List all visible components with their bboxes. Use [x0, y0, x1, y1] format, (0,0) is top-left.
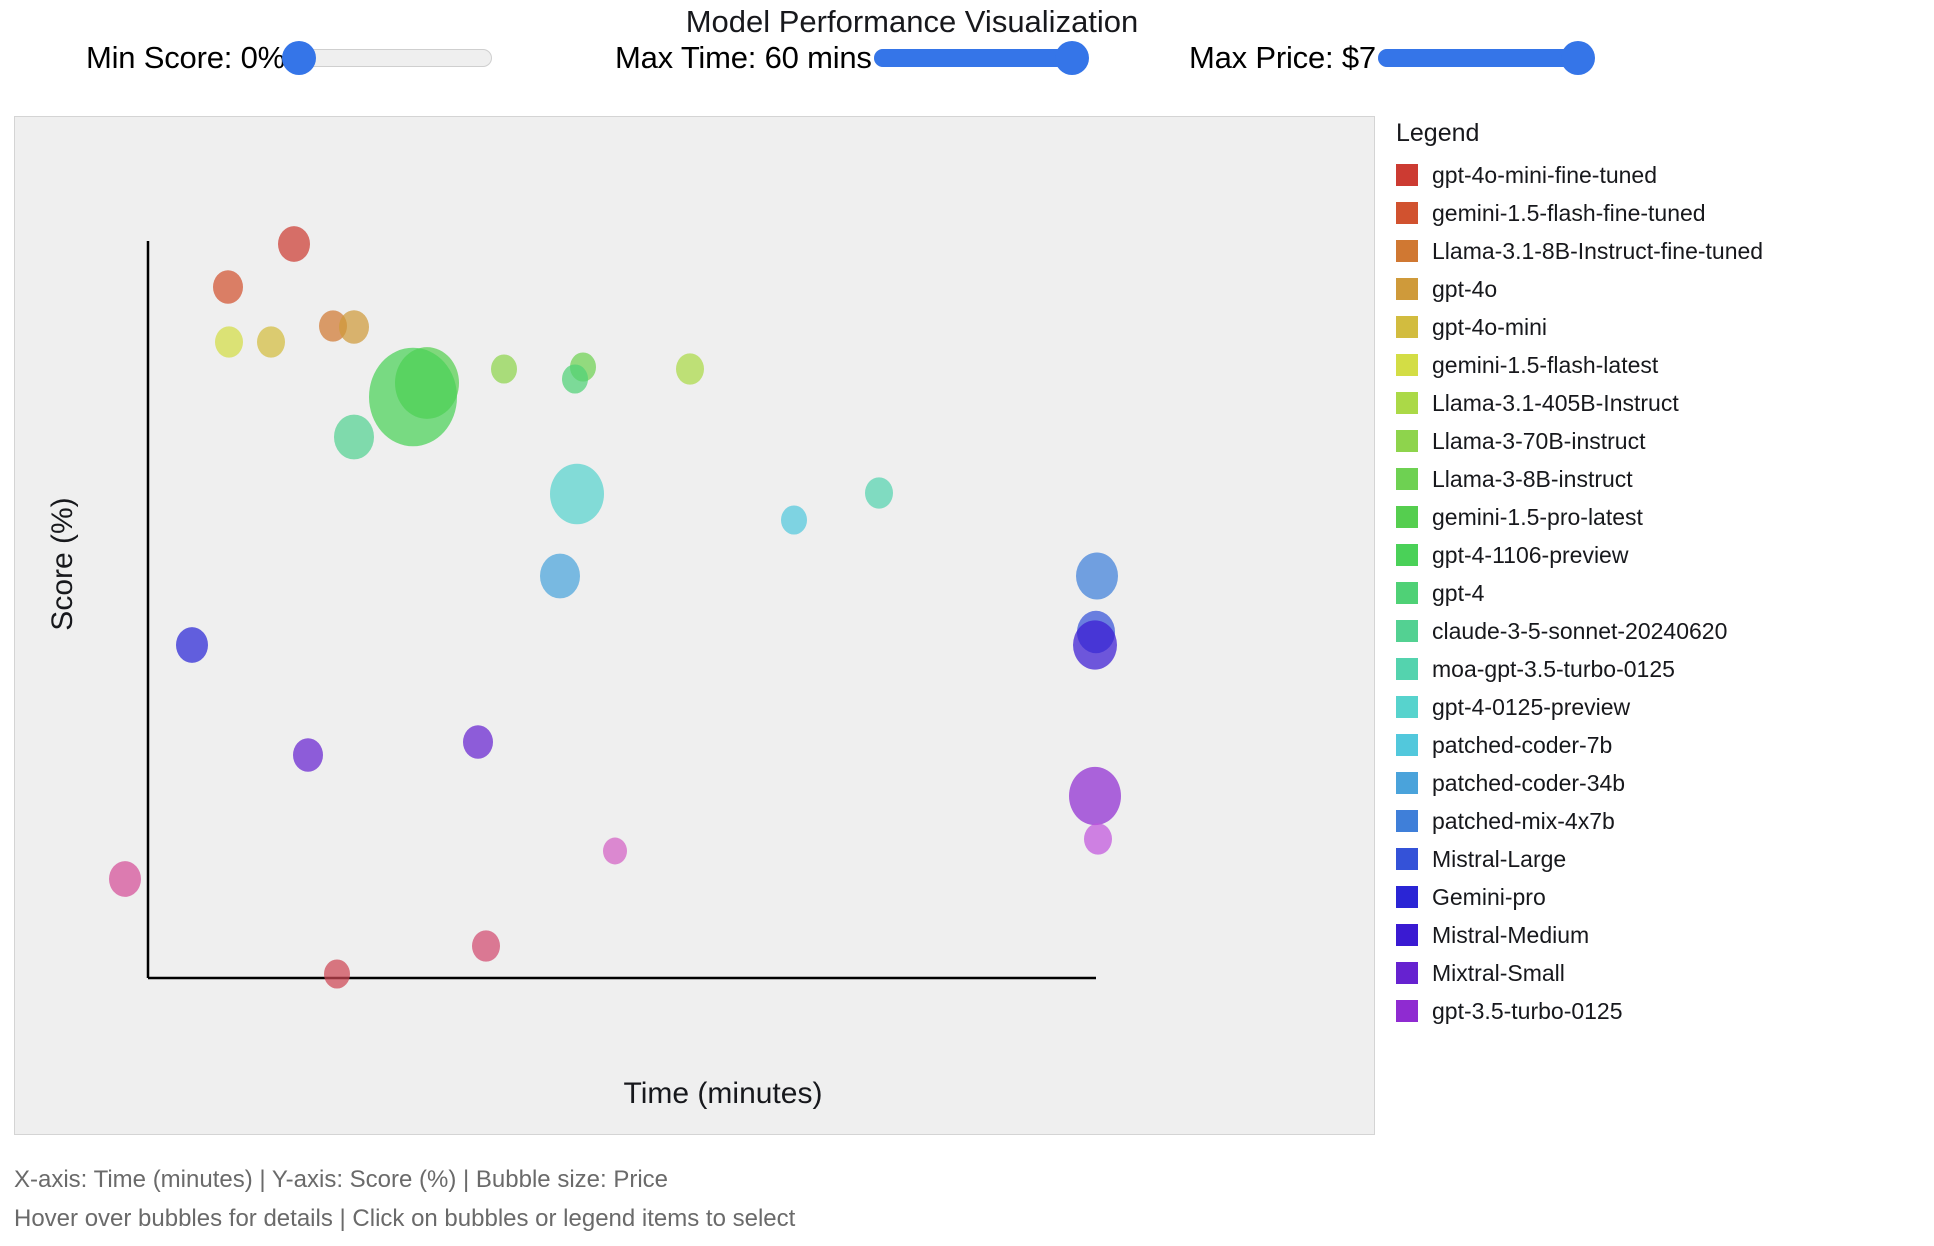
bubble[interactable] [215, 326, 243, 357]
legend-item[interactable]: Mistral-Medium [1396, 916, 1916, 954]
legend-color-swatch [1396, 734, 1418, 756]
bubble-chart-svg[interactable] [15, 117, 1375, 1135]
x-axis-title-text: Time (minutes) [624, 1077, 823, 1111]
page-title-text: Model Performance Visualization [686, 4, 1139, 40]
legend-item[interactable]: Mixtral-Small [1396, 954, 1916, 992]
legend-item[interactable]: gpt-4o-mini [1396, 308, 1916, 346]
legend-item-label: gpt-4o [1432, 276, 1497, 302]
footer-axis-info: X-axis: Time (minutes) | Y-axis: Score (… [14, 1160, 1414, 1199]
bubble[interactable] [781, 505, 807, 534]
legend-color-swatch [1396, 620, 1418, 642]
legend-color-swatch [1396, 202, 1418, 224]
legend-color-swatch [1396, 468, 1418, 490]
legend-item[interactable]: gpt-4 [1396, 574, 1916, 612]
bubble[interactable] [339, 310, 369, 344]
legend-item[interactable]: Llama-3.1-405B-Instruct [1396, 384, 1916, 422]
legend-item[interactable]: moa-gpt-3.5-turbo-0125 [1396, 650, 1916, 688]
legend-color-swatch [1396, 848, 1418, 870]
bubble[interactable] [293, 738, 323, 772]
max-time-slider[interactable] [874, 47, 1084, 69]
bubble[interactable] [463, 725, 493, 759]
max-price-slider-knob[interactable] [1561, 41, 1595, 75]
bubble[interactable] [865, 477, 893, 508]
bubble[interactable] [369, 348, 457, 447]
legend-color-swatch [1396, 658, 1418, 680]
legend-color-swatch [1396, 924, 1418, 946]
max-time-control: Max Time: 60 mins [615, 40, 1084, 76]
legend-color-swatch [1396, 316, 1418, 338]
bubble[interactable] [540, 554, 580, 599]
max-time-label: Max Time: 60 mins [615, 40, 872, 76]
max-price-control: Max Price: $7 [1189, 40, 1590, 76]
legend-item-label: gpt-4 [1432, 580, 1484, 606]
legend-item-label: Mistral-Large [1432, 846, 1566, 872]
legend-item[interactable]: gemini-1.5-flash-latest [1396, 346, 1916, 384]
legend-item-label: gpt-4o-mini-fine-tuned [1432, 162, 1657, 188]
max-price-label: Max Price: $7 [1189, 40, 1376, 76]
legend-color-swatch [1396, 278, 1418, 300]
legend-item[interactable]: gpt-4-1106-preview [1396, 536, 1916, 574]
footer: X-axis: Time (minutes) | Y-axis: Score (… [14, 1160, 1414, 1238]
bubble[interactable] [109, 861, 141, 897]
legend-item-label: gemini-1.5-flash-fine-tuned [1432, 200, 1706, 226]
legend-color-swatch [1396, 240, 1418, 262]
legend-item-label: gpt-3.5-turbo-0125 [1432, 998, 1623, 1024]
legend-color-swatch [1396, 772, 1418, 794]
legend-item-label: Mistral-Medium [1432, 922, 1589, 948]
max-time-slider-fill [874, 49, 1084, 67]
legend-item-label: moa-gpt-3.5-turbo-0125 [1432, 656, 1675, 682]
bubble[interactable] [213, 270, 243, 304]
legend-color-swatch [1396, 164, 1418, 186]
legend-color-swatch [1396, 810, 1418, 832]
bubble[interactable] [324, 959, 350, 988]
y-axis-title: Score (%) [46, 464, 80, 664]
legend-item[interactable]: claude-3-5-sonnet-20240620 [1396, 612, 1916, 650]
plot-inner [15, 117, 1374, 1134]
bubble[interactable] [1076, 552, 1118, 599]
legend-title: Legend [1396, 118, 1916, 148]
legend-item-label: gpt-4-1106-preview [1432, 542, 1628, 568]
bubble[interactable] [603, 838, 627, 865]
legend-item[interactable]: gpt-4o-mini-fine-tuned [1396, 156, 1916, 194]
legend-item-label: Mixtral-Small [1432, 960, 1565, 986]
bubble[interactable] [562, 364, 588, 393]
min-score-label: Min Score: 0% [86, 40, 285, 76]
legend: Legend gpt-4o-mini-fine-tunedgemini-1.5-… [1396, 118, 1916, 1030]
min-score-control: Min Score: 0% [86, 40, 492, 76]
y-axis-title-text: Score (%) [46, 497, 79, 630]
bubble[interactable] [1069, 767, 1121, 825]
bubble[interactable] [472, 930, 500, 961]
max-price-slider[interactable] [1378, 47, 1590, 69]
max-time-slider-knob[interactable] [1055, 41, 1089, 75]
legend-item[interactable]: gemini-1.5-pro-latest [1396, 498, 1916, 536]
bubble[interactable] [278, 226, 310, 262]
legend-item[interactable]: gemini-1.5-flash-fine-tuned [1396, 194, 1916, 232]
legend-item-label: patched-mix-4x7b [1432, 808, 1615, 834]
legend-item-label: Llama-3-70B-instruct [1432, 428, 1645, 454]
legend-item-label: Llama-3-8B-instruct [1432, 466, 1633, 492]
min-score-slider-track[interactable] [287, 49, 492, 67]
legend-item[interactable]: gpt-4-0125-preview [1396, 688, 1916, 726]
max-price-slider-fill [1378, 49, 1590, 67]
bubbles-group [109, 226, 1121, 988]
axes-group [148, 241, 1096, 978]
legend-item-label: claude-3-5-sonnet-20240620 [1432, 618, 1727, 644]
page-title: Model Performance Visualization [0, 4, 1934, 40]
legend-color-swatch [1396, 886, 1418, 908]
legend-item[interactable]: patched-coder-7b [1396, 726, 1916, 764]
bubble[interactable] [1084, 823, 1112, 854]
legend-color-swatch [1396, 1000, 1418, 1022]
legend-color-swatch [1396, 392, 1418, 414]
bubble[interactable] [550, 464, 604, 524]
legend-item[interactable]: Llama-3-8B-instruct [1396, 460, 1916, 498]
bubble[interactable] [491, 354, 517, 383]
legend-color-swatch [1396, 506, 1418, 528]
controls-bar: Model Performance Visualization Min Scor… [0, 0, 1934, 116]
legend-item[interactable]: gpt-4o [1396, 270, 1916, 308]
legend-item[interactable]: Llama-3.1-8B-Instruct-fine-tuned [1396, 232, 1916, 270]
legend-item-label: gpt-4o-mini [1432, 314, 1547, 340]
bubble[interactable] [334, 415, 374, 460]
legend-item-label: gemini-1.5-flash-latest [1432, 352, 1658, 378]
legend-item-label: Llama-3.1-8B-Instruct-fine-tuned [1432, 238, 1763, 264]
bubble[interactable] [1073, 620, 1117, 669]
legend-item[interactable]: Llama-3-70B-instruct [1396, 422, 1916, 460]
legend-color-swatch [1396, 696, 1418, 718]
bubble[interactable] [257, 326, 285, 357]
min-score-slider[interactable] [287, 47, 492, 69]
legend-color-swatch [1396, 582, 1418, 604]
min-score-slider-knob[interactable] [282, 41, 316, 75]
legend-color-swatch [1396, 430, 1418, 452]
legend-items-list: gpt-4o-mini-fine-tunedgemini-1.5-flash-f… [1396, 156, 1916, 1030]
footer-hint: Hover over bubbles for details | Click o… [14, 1199, 1414, 1238]
legend-item-label: Gemini-pro [1432, 884, 1546, 910]
legend-item[interactable]: Mistral-Large [1396, 840, 1916, 878]
legend-item-label: patched-coder-34b [1432, 770, 1625, 796]
bubble[interactable] [176, 627, 208, 663]
bubble[interactable] [676, 353, 704, 384]
bubble-chart-plot-area[interactable]: Score (%) Time (minutes) [14, 116, 1375, 1135]
legend-color-swatch [1396, 354, 1418, 376]
legend-item[interactable]: patched-mix-4x7b [1396, 802, 1916, 840]
legend-item[interactable]: Gemini-pro [1396, 878, 1916, 916]
legend-item-label: gpt-4-0125-preview [1432, 694, 1630, 720]
x-axis-title: Time (minutes) [15, 1077, 1375, 1111]
legend-item[interactable]: gpt-3.5-turbo-0125 [1396, 992, 1916, 1030]
legend-color-swatch [1396, 962, 1418, 984]
legend-color-swatch [1396, 544, 1418, 566]
legend-item-label: gemini-1.5-pro-latest [1432, 504, 1643, 530]
legend-item-label: patched-coder-7b [1432, 732, 1612, 758]
legend-item-label: Llama-3.1-405B-Instruct [1432, 390, 1679, 416]
legend-item[interactable]: patched-coder-34b [1396, 764, 1916, 802]
